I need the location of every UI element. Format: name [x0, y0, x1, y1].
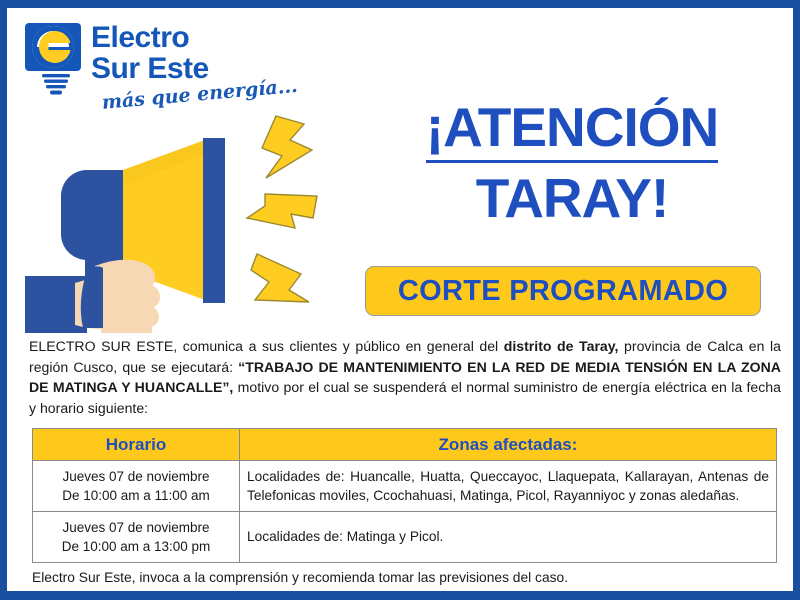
- column-header-zonas: Zonas afectadas:: [240, 429, 777, 461]
- table-row: Jueves 07 de noviembre De 10:00 am a 13:…: [33, 512, 777, 563]
- notice-part1: ELECTRO SUR ESTE, comunica a sus cliente…: [29, 338, 504, 354]
- table-header-row: Horario Zonas afectadas:: [33, 429, 777, 461]
- horario-date: Jueves 07 de noviembre: [37, 518, 235, 537]
- horario-date: Jueves 07 de noviembre: [37, 467, 235, 486]
- brand-logo: Electro Sur Este más que energía...: [19, 16, 269, 121]
- brand-wordmark: Electro Sur Este: [91, 22, 209, 84]
- brand-name-line2: Sur Este: [91, 53, 209, 84]
- column-header-horario: Horario: [33, 429, 240, 461]
- headline-line1: ¡ATENCIÓN: [426, 96, 718, 163]
- cell-zonas: Localidades de: Matinga y Picol.: [240, 512, 777, 563]
- cell-horario: Jueves 07 de noviembre De 10:00 am a 11:…: [33, 461, 240, 512]
- electro-sur-este-bulb-logo-icon: [25, 20, 87, 98]
- megaphone-in-hand-icon: [25, 108, 345, 333]
- cell-zonas: Localidades de: Huancalle, Huatta, Quecc…: [240, 461, 777, 512]
- notice-paragraph: ELECTRO SUR ESTE, comunica a sus cliente…: [29, 336, 781, 418]
- schedule-table: Horario Zonas afectadas: Jueves 07 de no…: [32, 428, 777, 563]
- footer-note: Electro Sur Este, invoca a la comprensió…: [32, 570, 568, 585]
- horario-time: De 10:00 am a 11:00 am: [37, 486, 235, 505]
- table-row: Jueves 07 de noviembre De 10:00 am a 11:…: [33, 461, 777, 512]
- headline-line2: TARAY!: [347, 167, 797, 229]
- outage-notice-poster: Electro Sur Este más que energía...: [0, 0, 800, 600]
- page-title: ¡ATENCIÓN TARAY!: [347, 96, 797, 229]
- schedule-table-container: Horario Zonas afectadas: Jueves 07 de no…: [32, 428, 777, 563]
- cell-horario: Jueves 07 de noviembre De 10:00 am a 13:…: [33, 512, 240, 563]
- status-badge-label: CORTE PROGRAMADO: [398, 275, 728, 308]
- poster-header: Electro Sur Este más que energía...: [7, 8, 793, 326]
- brand-name-line1: Electro: [91, 21, 189, 54]
- status-badge: CORTE PROGRAMADO: [365, 266, 761, 316]
- horario-time: De 10:00 am a 13:00 pm: [37, 537, 235, 556]
- notice-bold-district: distrito de Taray,: [504, 338, 619, 354]
